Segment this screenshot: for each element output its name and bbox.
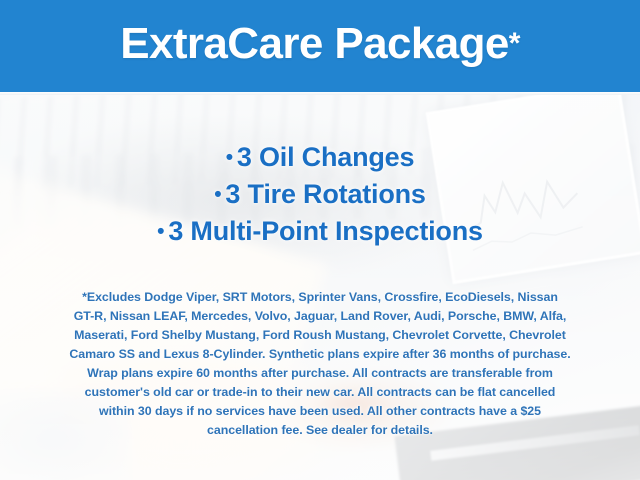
disclaimer-line: within 30 days if no services have been … [22, 402, 618, 421]
benefit-item: •3 Multi-Point Inspections [0, 213, 640, 250]
disclaimer-line: cancellation fee. See dealer for details… [22, 421, 618, 440]
benefit-item-label: 3 Oil Changes [237, 142, 414, 172]
bullet-dot-icon: • [214, 183, 225, 206]
header-underline [0, 92, 640, 95]
disclaimer-text: *Excludes Dodge Viper, SRT Motors, Sprin… [22, 288, 618, 440]
benefit-item-label: 3 Tire Rotations [225, 179, 425, 209]
page-title: ExtraCare Package* [0, 0, 640, 92]
disclaimer-line: GT-R, Nissan LEAF, Mercedes, Volvo, Jagu… [22, 307, 618, 326]
disclaimer-line: customer's old car or trade-in to their … [22, 383, 618, 402]
benefits-list: •3 Oil Changes •3 Tire Rotations •3 Mult… [0, 139, 640, 250]
disclaimer-line: *Excludes Dodge Viper, SRT Motors, Sprin… [22, 288, 618, 307]
benefit-item-label: 3 Multi-Point Inspections [168, 216, 483, 246]
benefit-item: •3 Tire Rotations [0, 176, 640, 213]
benefit-item: •3 Oil Changes [0, 139, 640, 176]
extracare-package-ad: ExtraCare Package* •3 Oil Changes •3 Tir… [0, 0, 640, 480]
page-title-text: ExtraCare Package [120, 22, 509, 66]
disclaimer-line: Maserati, Ford Shelby Mustang, Ford Rous… [22, 326, 618, 345]
disclaimer-line: Wrap plans expire 60 months after purcha… [22, 364, 618, 383]
bullet-dot-icon: • [157, 220, 168, 243]
bullet-dot-icon: • [226, 146, 237, 169]
disclaimer-line: Camaro SS and Lexus 8-Cylinder. Syntheti… [22, 345, 618, 364]
header-banner: ExtraCare Package* [0, 0, 640, 92]
